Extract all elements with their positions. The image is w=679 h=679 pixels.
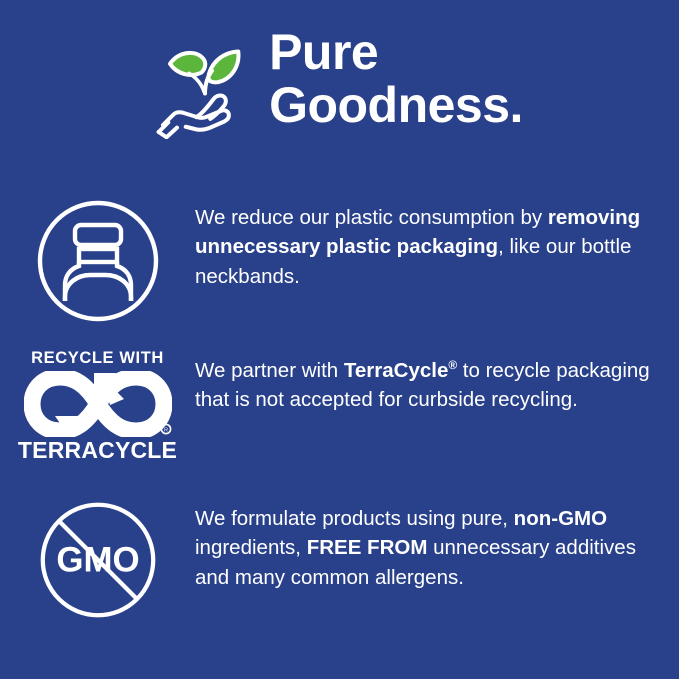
terracycle-wordmark: TerraCycle	[344, 359, 448, 382]
bottle-neckband-icon	[34, 197, 162, 325]
recycle-infinity-loop-icon: R	[24, 371, 172, 437]
text-part: ingredients,	[195, 536, 307, 559]
text-part: We partner with	[195, 359, 344, 382]
text-part: We reduce our plastic consumption by	[195, 206, 548, 229]
feature-row-terracycle: RECYCLE WITH R TERRACYCLE	[0, 348, 679, 462]
feature-icon-cell: RECYCLE WITH R TERRACYCLE	[0, 348, 195, 462]
feature-row-non-gmo: GMO We formulate products using pure, no…	[0, 496, 679, 622]
feature-row-plastic-reduction: We reduce our plastic consumption by rem…	[0, 195, 679, 325]
terracycle-bottom-label: TERRACYCLE	[18, 439, 177, 462]
gmo-label: GMO	[56, 541, 139, 580]
terracycle-logo: RECYCLE WITH R TERRACYCLE	[23, 350, 173, 462]
hand-holding-sprout-icon	[156, 34, 261, 139]
feature-icon-cell: GMO	[0, 496, 195, 622]
no-gmo-icon: GMO	[36, 498, 160, 622]
page-title: Pure Goodness.	[269, 26, 523, 132]
terracycle-bottom-row: TERRACYCLE	[18, 439, 177, 462]
pure-goodness-infographic: Pure Goodness. We reduce our plastic con…	[0, 0, 679, 679]
text-part-bold: non-GMO	[514, 507, 607, 530]
text-part-bold: TerraCycle®	[344, 359, 457, 382]
brand-header: Pure Goodness.	[0, 26, 679, 156]
feature-text-plastic-reduction: We reduce our plastic consumption by rem…	[195, 195, 679, 291]
registered-mark: ®	[448, 358, 457, 372]
feature-text-non-gmo: We formulate products using pure, non-GM…	[195, 496, 679, 592]
svg-text:R: R	[163, 427, 167, 433]
terracycle-top-label: RECYCLE WITH	[31, 350, 164, 367]
feature-text-terracycle: We partner with TerraCycle® to recycle p…	[195, 348, 679, 415]
text-part: We formulate products using pure,	[195, 507, 514, 530]
feature-icon-cell	[0, 195, 195, 325]
text-part-bold: FREE FROM	[307, 536, 428, 559]
